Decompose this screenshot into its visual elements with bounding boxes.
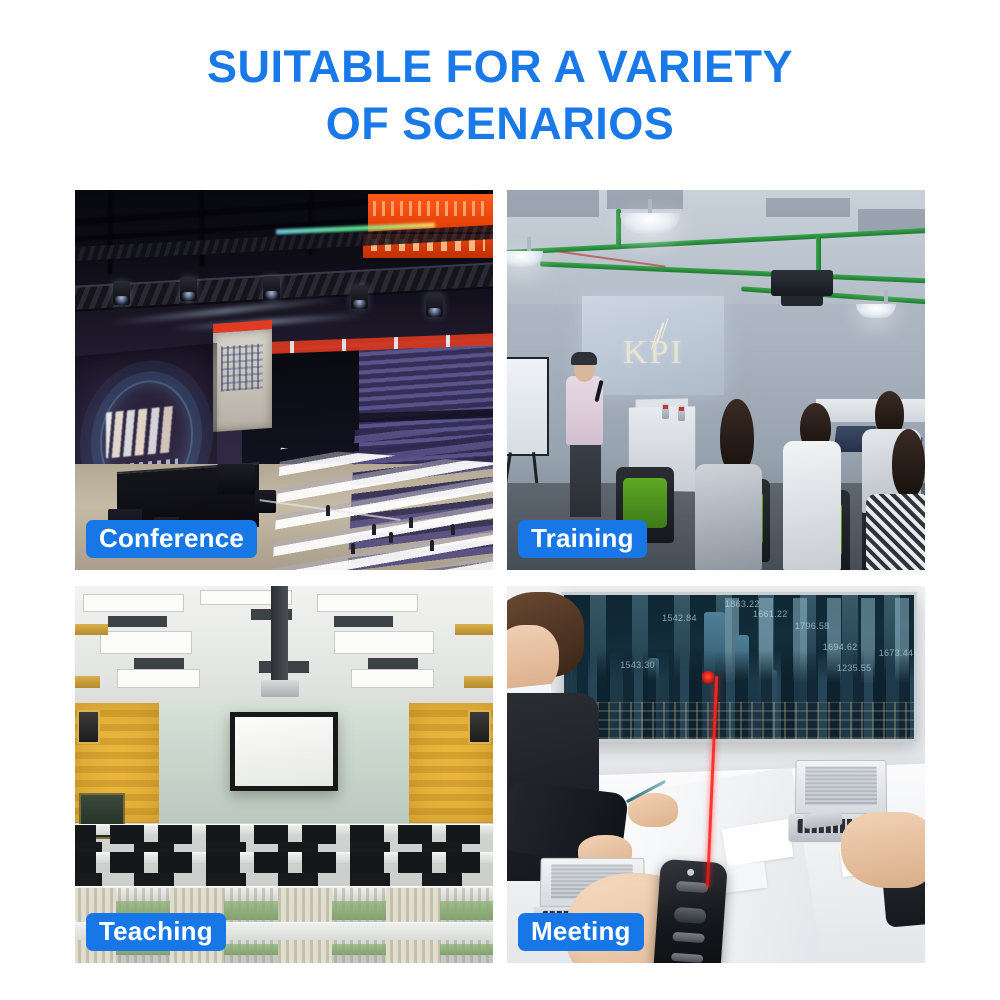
presenter-remote[interactable] <box>654 859 729 963</box>
teaching-photo <box>75 586 493 963</box>
training-photo: KPI <box>507 190 925 570</box>
product-feature-page: SUITABLE FOR A VARIETY OF SCENARIOS <box>0 0 1000 1000</box>
scenario-card-teaching[interactable]: Teaching <box>75 586 493 963</box>
scenario-label-meeting: Meeting <box>518 913 644 951</box>
scenario-card-training[interactable]: KPI <box>507 190 925 570</box>
laser-dot <box>702 671 714 685</box>
display-value-4: 1694.62 <box>823 642 858 652</box>
scenario-label-training: Training <box>518 520 647 558</box>
scenario-grid: Conference <box>75 190 925 963</box>
remote-button-down[interactable] <box>673 932 706 943</box>
display-value-5: 1673.44 <box>879 648 914 658</box>
training-projection-screen: KPI <box>582 296 724 395</box>
conference-photo <box>75 190 493 570</box>
display-value-6: 1235.55 <box>837 663 872 673</box>
display-value-2: 1661.22 <box>753 609 788 619</box>
remote-laser-emitter-icon <box>687 869 694 876</box>
remote-button-center[interactable] <box>674 908 707 925</box>
remote-button-extra[interactable] <box>672 953 705 963</box>
teaching-projection-screen <box>230 712 339 791</box>
scenario-label-conference: Conference <box>86 520 257 558</box>
scenario-label-teaching: Teaching <box>86 913 226 951</box>
remote-button-up[interactable] <box>677 882 710 893</box>
page-title-line-2: OF SCENARIOS <box>0 95 1000 152</box>
scenario-card-conference[interactable]: Conference <box>75 190 493 570</box>
meeting-photo: 1863.22 1542.84 1661.22 1796.58 1694.62 … <box>507 586 925 963</box>
training-slide-title: KPI <box>582 334 724 372</box>
scenario-card-meeting[interactable]: 1863.22 1542.84 1661.22 1796.58 1694.62 … <box>507 586 925 963</box>
page-title-line-1: SUITABLE FOR A VARIETY <box>0 38 1000 95</box>
display-value-1: 1542.84 <box>662 613 697 623</box>
page-title: SUITABLE FOR A VARIETY OF SCENARIOS <box>0 38 1000 152</box>
display-value-3: 1796.58 <box>795 621 830 631</box>
display-value-0: 1863.22 <box>725 599 760 609</box>
